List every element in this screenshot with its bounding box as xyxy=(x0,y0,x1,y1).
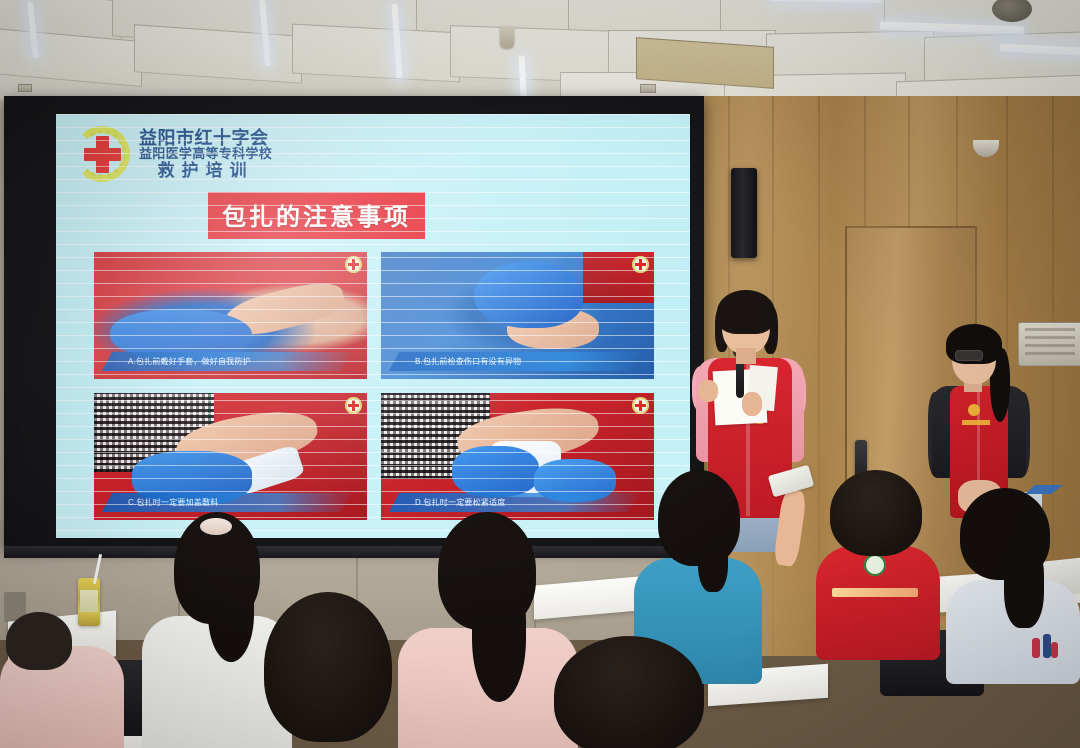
vest-text xyxy=(832,588,918,597)
ceiling-vent xyxy=(640,84,656,93)
attendee-light-grey-shirt xyxy=(946,488,1080,676)
ceiling-vent xyxy=(18,84,32,92)
slide-photo-d: D.包扎时一定要松紧适度 xyxy=(381,393,654,520)
slide-title: 包扎的注意事项 xyxy=(208,192,425,239)
red-cross-icon xyxy=(632,397,649,414)
drink-can xyxy=(78,578,100,626)
attendee-foreground-head xyxy=(540,636,730,748)
slide-photo-a: A.包扎前戴好手套，做好自我防护 xyxy=(94,252,367,379)
shirt-graphic-icon xyxy=(1032,634,1058,662)
attendee-head xyxy=(264,592,392,742)
attendee-head xyxy=(6,612,72,670)
slide-photo-b: B.包扎前检查伤口有没有异物 xyxy=(381,252,654,379)
red-cross-icon xyxy=(345,397,362,414)
presenter-hand-left xyxy=(698,380,718,402)
presenter-hair xyxy=(717,290,775,334)
attendee-head xyxy=(554,636,704,748)
attendee-dark-hair-front xyxy=(236,592,426,748)
glasses-icon xyxy=(955,350,983,361)
sprinkler-head xyxy=(500,26,514,48)
projection-screen: 益阳市红十字会 益阳医学高等专科学校 救护培训 包扎的注意事项 A.包扎前戴好手… xyxy=(4,96,704,548)
red-cross-laurel-logo xyxy=(74,126,130,182)
slide-header: 益阳市红十字会 益阳医学高等专科学校 救护培训 xyxy=(74,126,272,182)
photo-caption-a: A.包扎前戴好手套，做好自我防护 xyxy=(102,352,353,371)
vest-emblem-icon xyxy=(864,554,886,576)
photo-caption-b: B.包扎前检查伤口有没有异物 xyxy=(389,352,640,371)
attendee-head xyxy=(960,488,1050,580)
assistant-vest-logo xyxy=(968,404,980,416)
slide-photo-c: C.包扎时一定要加盖敷料 xyxy=(94,393,367,520)
presenter-hand-right xyxy=(742,392,762,416)
attendee-red-volunteer-vest xyxy=(810,470,940,650)
slide-photo-grid: A.包扎前戴好手套，做好自我防护 B.包扎前检查伤口有没有异物 xyxy=(94,252,654,520)
org-line-3: 救护培训 xyxy=(139,162,272,180)
attendee-head xyxy=(830,470,922,556)
wall-speaker-column xyxy=(731,168,757,258)
red-cross-icon xyxy=(345,256,362,273)
org-line-2: 益阳医学高等专科学校 xyxy=(139,147,272,161)
hair-bow xyxy=(200,518,232,535)
attendee-left-peach-shirt xyxy=(0,620,120,748)
org-line-1: 益阳市红十字会 xyxy=(139,129,272,148)
attendee-head xyxy=(438,512,536,630)
red-cross-icon xyxy=(632,256,649,273)
lecture-hall-photo: 益阳市红十字会 益阳医学高等专科学校 救护培训 包扎的注意事项 A.包扎前戴好手… xyxy=(0,0,1080,748)
photo-caption-d: D.包扎时一定要松紧适度 xyxy=(389,493,640,512)
ceiling-tile xyxy=(292,24,460,83)
presentation-slide: 益阳市红十字会 益阳医学高等专科学校 救护培训 包扎的注意事项 A.包扎前戴好手… xyxy=(56,114,690,538)
attendee-head xyxy=(658,470,740,566)
photo-caption-c: C.包扎时一定要加盖敷料 xyxy=(102,493,353,512)
